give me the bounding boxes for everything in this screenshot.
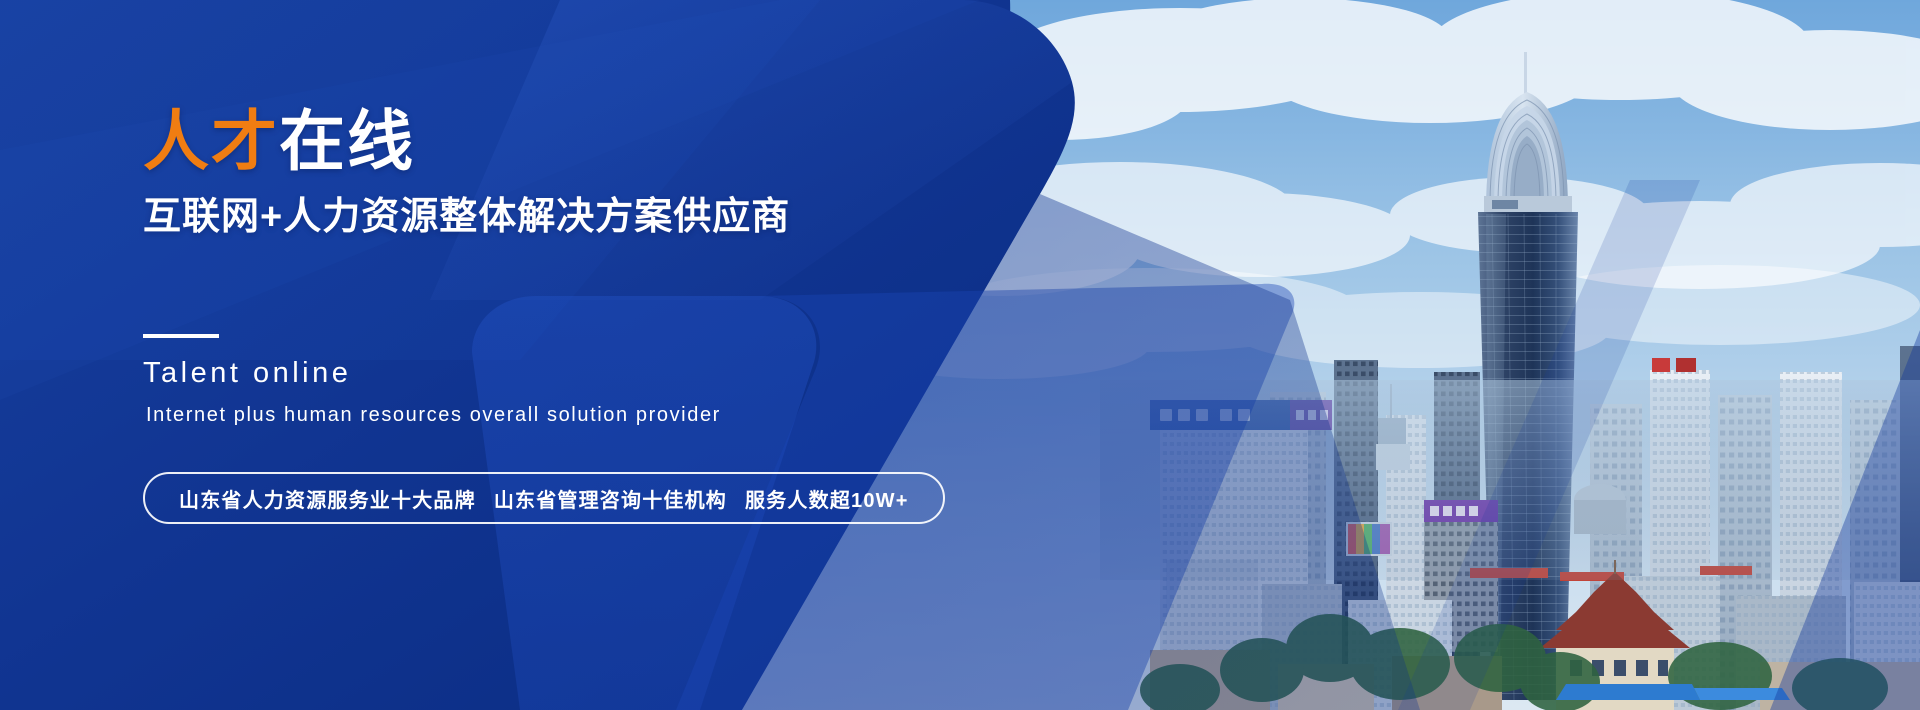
- title-plain-text: 在线: [279, 104, 415, 178]
- page-subtitle: 互联网+人力资源整体解决方案供应商: [143, 195, 790, 241]
- divider-rule: [143, 334, 219, 338]
- badge-item-1: 山东省人力资源服务业十大品牌: [179, 484, 476, 513]
- hero-banner: 人才在线 互联网+人力资源整体解决方案供应商 Talent online Int…: [0, 0, 1920, 710]
- credentials-badge: 山东省人力资源服务业十大品牌 山东省管理咨询十佳机构 服务人数超10W+: [143, 472, 945, 524]
- badge-item-2: 山东省管理咨询十佳机构: [494, 484, 727, 513]
- title-accent-text: 人才: [143, 104, 279, 178]
- english-title: Talent online: [143, 357, 351, 390]
- english-subtitle: Internet plus human resources overall so…: [146, 404, 721, 427]
- badge-item-3: 服务人数超10W+: [745, 484, 909, 513]
- banner-content: 人才在线 互联网+人力资源整体解决方案供应商 Talent online Int…: [0, 0, 1100, 710]
- page-title: 人才在线: [143, 108, 415, 174]
